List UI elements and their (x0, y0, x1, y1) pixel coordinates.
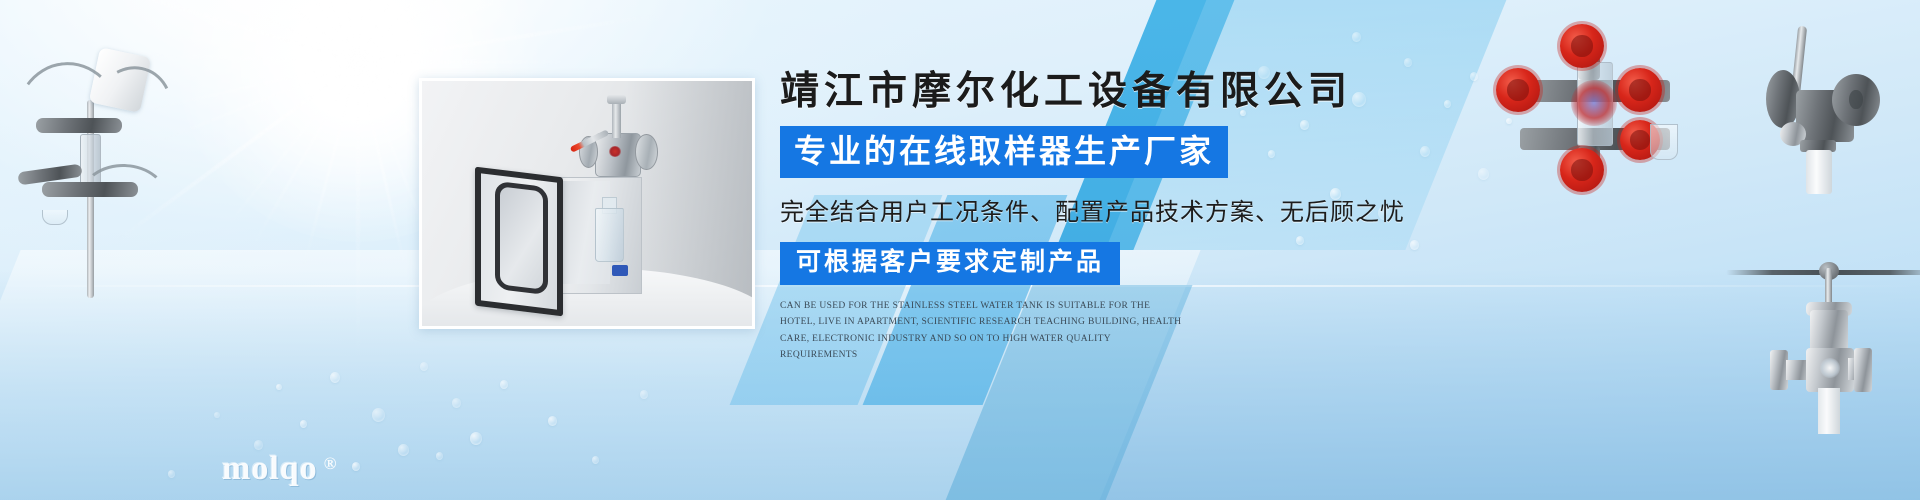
sample-bottle (595, 208, 623, 261)
cta-badge[interactable]: 可根据客户要求定制产品 (780, 242, 1120, 285)
english-description: CAN BE USED FOR THE STAINLESS STEEL WATE… (780, 298, 1188, 363)
promotional-banner: 靖江市摩尔化工设备有限公司 专业的在线取样器生产厂家 完全结合用户工况条件、配置… (0, 0, 1920, 500)
headline-highlight: 专业的在线取样器生产厂家 (780, 126, 1228, 178)
lever-valve-post (1806, 150, 1832, 194)
red-handwheel-right (1618, 68, 1662, 112)
flanged-knob-sampling-valve (1762, 272, 1912, 432)
red-handwheel-top (1560, 24, 1604, 68)
red-handwheel-left (1496, 68, 1540, 112)
watermark-text: molqo (222, 452, 318, 486)
knob-valve-flange-right (1854, 348, 1872, 392)
headline-row: 专业的在线取样器生产厂家 (780, 126, 1400, 178)
top-mounted-sampling-valve (577, 96, 656, 184)
bottle-cap (612, 265, 629, 276)
red-handwheel-bottom (1560, 148, 1604, 192)
watermark-logo: molqo ® (222, 452, 337, 486)
subheadline: 完全结合用户工况条件、配置产品技术方案、无后顾之忧 (780, 192, 1400, 227)
red-handwheel-valve-manifold (1498, 28, 1698, 178)
registered-mark-icon: ® (324, 454, 338, 474)
online-sampler-cabinet-photo (419, 78, 755, 329)
knob-valve-outlet-tube (1818, 388, 1840, 434)
valve-bonnet (1810, 310, 1848, 352)
valve-flange-right (635, 134, 658, 170)
headline-text-block: 靖江市摩尔化工设备有限公司 专业的在线取样器生产厂家 完全结合用户工况条件、配置… (780, 72, 1400, 363)
flanged-lever-valve (1770, 18, 1900, 188)
sample-cup (42, 210, 68, 225)
lever-valve-flange-right (1832, 74, 1880, 126)
pole-mounted-sampler-assembly (8, 22, 178, 302)
manifold-sample-jar (1650, 124, 1678, 160)
cabinet-door-window (495, 181, 548, 295)
knob-valve-seal-logo (1820, 358, 1840, 378)
manifold-seal-logo (1571, 80, 1617, 126)
valve-stem (612, 101, 621, 138)
company-name: 靖江市摩尔化工设备有限公司 (780, 72, 1400, 113)
valve-top-knob (607, 95, 626, 104)
lever-valve-flange-left (1766, 70, 1800, 128)
valve-seal-logo (609, 146, 622, 157)
cta-row: 可根据客户要求定制产品 (780, 242, 1400, 285)
